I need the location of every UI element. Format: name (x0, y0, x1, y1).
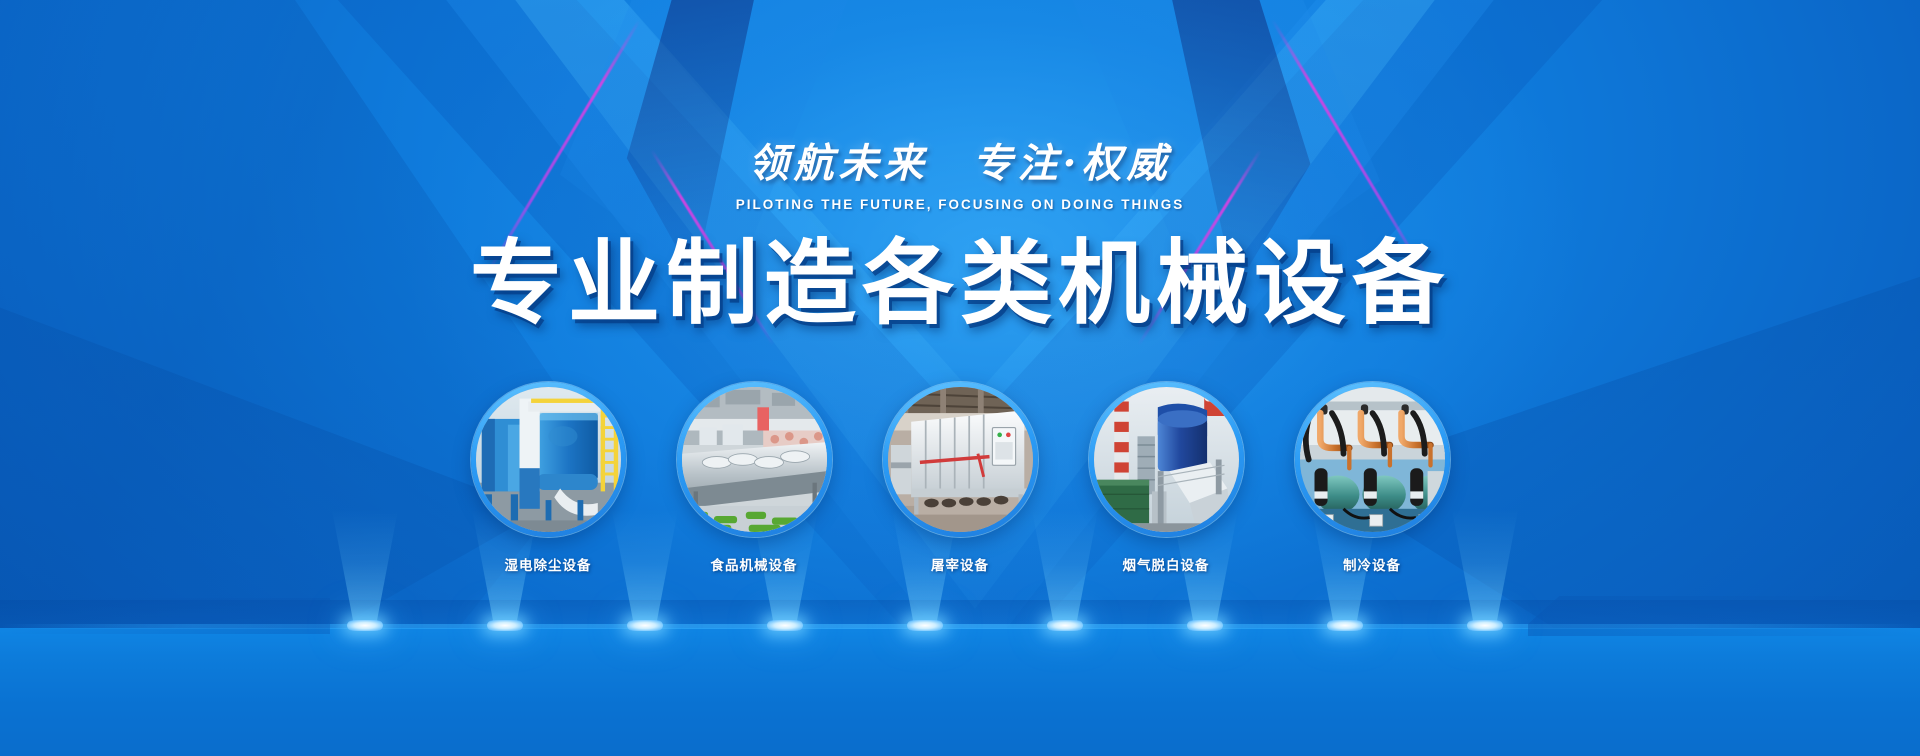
product-label: 屠宰设备 (931, 554, 989, 574)
product-card[interactable]: 烟气脱白设备 (1089, 382, 1244, 574)
product-circle-frame[interactable] (1295, 382, 1450, 537)
product-circle-frame[interactable] (883, 382, 1038, 537)
product-label: 制冷设备 (1343, 554, 1401, 574)
main-headline: 专业制造各类机械设备 (470, 236, 1450, 333)
product-card[interactable]: 食品机械设备 (677, 382, 832, 574)
product-card[interactable]: 制冷设备 (1295, 382, 1450, 574)
calligraphy-phrase-1: 领航未来 (749, 144, 929, 184)
calligraphy-slogan: 领航未来 专注·权威 (749, 144, 1172, 184)
wet-electrostatic-precipitator-photo (476, 387, 621, 532)
food-processing-machinery-photo (682, 387, 827, 532)
refrigeration-equipment-photo (1300, 387, 1445, 532)
calligraphy-phrase-2: 专注·权威 (973, 144, 1172, 184)
product-label: 食品机械设备 (711, 554, 798, 574)
product-circle-frame[interactable] (677, 382, 832, 537)
product-circle-row: 湿电除尘设备 (0, 382, 1920, 574)
product-card[interactable]: 湿电除尘设备 (471, 382, 626, 574)
product-circle-frame[interactable] (1089, 382, 1244, 537)
banner-content: 领航未来 专注·权威 PILOTING THE FUTURE, FOCUSING… (0, 0, 1920, 756)
product-label: 湿电除尘设备 (505, 554, 592, 574)
flue-gas-dewhitening-photo (1094, 387, 1239, 532)
product-card[interactable]: 屠宰设备 (883, 382, 1038, 574)
promo-banner: 领航未来 专注·权威 PILOTING THE FUTURE, FOCUSING… (0, 0, 1920, 756)
slaughter-equipment-photo (888, 387, 1033, 532)
product-label: 烟气脱白设备 (1123, 554, 1210, 574)
product-circle-frame[interactable] (471, 382, 626, 537)
english-subtitle: PILOTING THE FUTURE, FOCUSING ON DOING T… (736, 197, 1185, 212)
